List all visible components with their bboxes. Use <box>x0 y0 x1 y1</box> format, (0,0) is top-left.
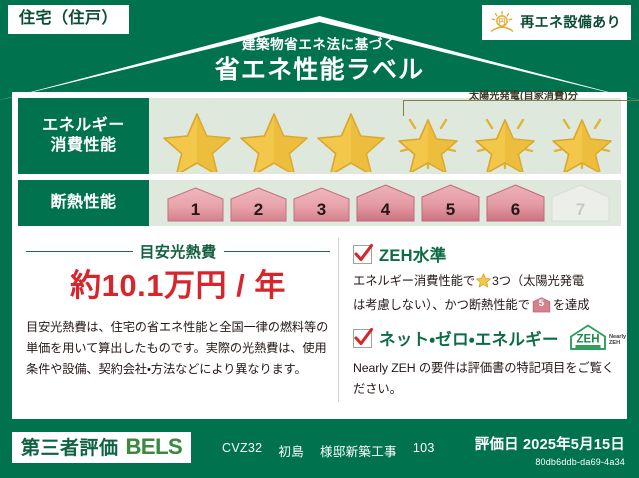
star-icon <box>236 106 312 172</box>
sun-icon: 円 <box>489 10 515 34</box>
star-icon-solar <box>544 106 620 172</box>
energy-performance-label: エネルギー 消費性能 <box>18 98 149 174</box>
insulation-level-5: 5 <box>419 183 482 224</box>
insulation-level-number: 5 <box>419 200 482 220</box>
project-name: 様邸新築工事 <box>320 441 397 460</box>
net-zero-body: Nearly ZEH の要件は評価書の特記項目をご覧ください。 <box>353 358 626 399</box>
net-zero-title: ネット・ゼロ・エネルギー <box>379 326 559 350</box>
zeh-body-part3: を達成 <box>553 298 590 312</box>
star-icon <box>159 106 235 172</box>
page-title: 省エネ性能ラベル <box>0 56 639 85</box>
certification-section: ZEH水準 エネルギー消費性能で 3つ（太陽光発電は考慮しない）、かつ断熱性能で… <box>345 234 632 414</box>
bels-badge: 第三者評価 BELS <box>12 432 191 463</box>
energy-label-line2: 消費性能 <box>50 136 116 156</box>
insulation-level-number: 2 <box>228 200 289 220</box>
project-meta: CVZ32 初島 様邸新築工事 103 <box>222 441 435 460</box>
insulation-level-number: 1 <box>165 200 226 220</box>
insulation-performance-label: 断熱性能 <box>18 180 149 226</box>
net-zero-energy-block: ネット・ゼロ・エネルギー ZEH Nearly ZEH Nearly ZEH の… <box>353 323 626 399</box>
star-icon-solar <box>467 106 543 172</box>
zeh-body-part1: エネルギー消費性能で <box>353 274 475 288</box>
inline-star-icon <box>476 273 491 295</box>
project-code: CVZ32 <box>222 441 262 460</box>
rule-left <box>26 251 133 253</box>
energy-label-line1: エネルギー <box>42 116 125 136</box>
zeh-logo-icon: ZEH Nearly ZEH <box>568 323 626 353</box>
star-rating <box>149 106 620 172</box>
project-unit: 103 <box>413 441 435 460</box>
evaluation-id: 80db6ddb-da69-4a34 <box>475 457 625 467</box>
bels-jp-label: 第三者評価 <box>21 439 119 458</box>
energy-performance-value: 太陽光発電(自家消費)分 <box>149 98 621 174</box>
label-subtitle: 建築物省エネ法に基づく <box>0 38 639 53</box>
insulation-level-1: 1 <box>165 186 226 224</box>
bels-en-logo: BELS <box>126 436 183 458</box>
insulation-performance-row: 断熱性能 1 <box>18 180 621 226</box>
vertical-divider <box>338 238 339 402</box>
label-title-block: 建築物省エネ法に基づく 省エネ性能ラベル <box>0 38 639 85</box>
label-body-card: エネルギー 消費性能 太陽光発電(自家消費)分 <box>12 92 627 419</box>
svg-text:ZEH: ZEH <box>609 340 620 346</box>
utility-cost-section: 目安光熱費 約10.1万円 / 年 目安光熱費は、住宅の省エネ性能と全国一律の燃… <box>18 234 338 414</box>
inline-house-badge: 5 <box>532 297 551 313</box>
evaluation-date: 評価日 2025年5月15日 <box>475 433 625 454</box>
insulation-level-scale: 1 2 3 <box>149 183 612 224</box>
checkbox-net-zero-energy[interactable] <box>353 329 372 348</box>
label-footer: 第三者評価 BELS CVZ32 初島 様邸新築工事 103 評価日 2025年… <box>0 426 639 478</box>
insulation-level-number: 4 <box>354 200 417 220</box>
utility-cost-note: 目安光熱費は、住宅の省エネ性能と全国一律の燃料等の単価を用いて算出したものです。… <box>26 317 330 380</box>
badge-house-type: 住宅（住戸） <box>8 5 129 34</box>
insulation-level-4: 4 <box>354 183 417 224</box>
zeh-standard-header: ZEH水準 <box>353 242 626 266</box>
zeh-body-part2: は考慮しない）、かつ断熱性能で <box>353 298 530 312</box>
checkbox-zeh-standard[interactable] <box>353 245 372 264</box>
insulation-level-6: 6 <box>484 183 547 224</box>
inline-house-level: 5 <box>532 296 551 312</box>
star-icon <box>313 106 389 172</box>
insulation-level-number: 3 <box>291 200 352 220</box>
badge-renewable-equipment: 円 再エネ設備あり <box>482 5 631 40</box>
svg-text:円: 円 <box>499 18 506 26</box>
zeh-standard-title: ZEH水準 <box>379 242 447 266</box>
insulation-label-text: 断熱性能 <box>50 193 116 213</box>
evaluation-info: 評価日 2025年5月15日 80db6ddb-da69-4a34 <box>475 433 625 467</box>
zeh-standard-block: ZEH水準 エネルギー消費性能で 3つ（太陽光発電は考慮しない）、かつ断熱性能で… <box>353 242 626 315</box>
utility-cost-title-row: 目安光熱費 <box>26 241 330 262</box>
bels-energy-label: 住宅（住戸） 円 再エネ設備あり 建築物省エネ法に基づく 省エネ性能ラベル <box>0 0 639 478</box>
zeh-body-star-count: 3つ（太陽光発電 <box>492 274 584 288</box>
badge-renewable-label: 再エネ設備あり <box>520 15 621 29</box>
utility-cost-value: 約10.1万円 / 年 <box>26 269 330 303</box>
svg-text:ZEH: ZEH <box>576 334 599 346</box>
insulation-level-2: 2 <box>228 186 289 224</box>
energy-performance-row: エネルギー 消費性能 太陽光発電(自家消費)分 <box>18 98 621 174</box>
lower-section: 目安光熱費 約10.1万円 / 年 目安光熱費は、住宅の省エネ性能と全国一律の燃… <box>18 234 621 414</box>
project-area: 初島 <box>278 441 304 460</box>
zeh-standard-body: エネルギー消費性能で 3つ（太陽光発電は考慮しない）、かつ断熱性能で 5 を達成 <box>353 271 626 315</box>
insulation-level-number: 7 <box>549 200 612 220</box>
rule-right <box>224 251 331 253</box>
insulation-level-3: 3 <box>291 186 352 224</box>
star-icon-solar <box>390 106 466 172</box>
utility-cost-title: 目安光熱費 <box>140 241 217 262</box>
insulation-level-7: 7 <box>549 183 612 224</box>
insulation-level-number: 6 <box>484 200 547 220</box>
net-zero-header: ネット・ゼロ・エネルギー ZEH Nearly ZEH <box>353 323 626 353</box>
insulation-performance-value: 1 2 3 <box>149 180 621 226</box>
